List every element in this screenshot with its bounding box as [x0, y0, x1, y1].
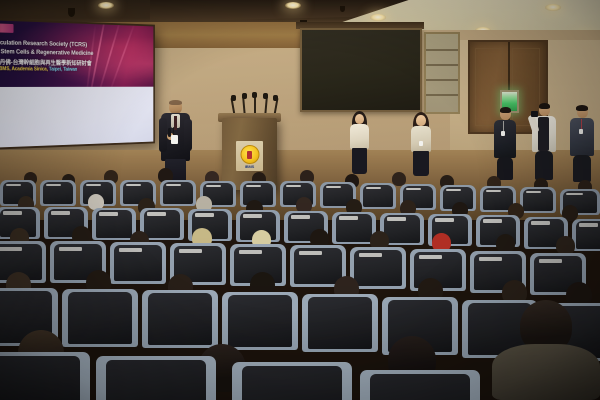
- slide-venue-line: Hall, IBMS, Academia Sinica, Taipei, Tai…: [0, 66, 153, 73]
- standing-woman-left-face: [355, 114, 364, 124]
- camera-device: [531, 111, 538, 117]
- standing-man-left: [492, 108, 518, 180]
- podium-microphone-head: [273, 95, 278, 101]
- photographer-vest: [538, 117, 549, 151]
- ceiling-downlight: [285, 2, 301, 9]
- ceiling-downlight: [545, 4, 561, 11]
- podium-microphone-head: [252, 92, 257, 98]
- standing-woman-left: [347, 112, 371, 174]
- secondary-dark-screen: [300, 28, 422, 112]
- standing-man-photographer: [530, 104, 558, 180]
- standing-man-left-hair: [500, 107, 511, 113]
- photographer-hair: [539, 103, 550, 109]
- podium-emblem-plaque: IBMS: [236, 141, 263, 171]
- ceiling-downlight: [98, 2, 114, 9]
- seal-center-mark: [247, 151, 252, 159]
- podium-microphone-head: [231, 95, 236, 101]
- standing-man-right-badge: [579, 129, 583, 134]
- auditorium-photo: n Circulation Research Society (TCRS) n …: [0, 0, 600, 400]
- speaker-necktie: [174, 116, 177, 130]
- auditorium-seat-foreground: [360, 370, 480, 400]
- auditorium-seat: [520, 187, 556, 213]
- auditorium-seat: [110, 242, 166, 284]
- speaker-arm-left: [159, 118, 167, 152]
- ceiling-downlight: [370, 14, 386, 21]
- slide-venue-city: Taipei, Taiwan: [49, 67, 77, 73]
- podium-microphone-head: [263, 93, 268, 99]
- projection-screen: n Circulation Research Society (TCRS) n …: [0, 18, 155, 150]
- speaker-name-badge: [171, 135, 178, 144]
- standing-woman-right-badge: [419, 141, 423, 146]
- ceiling-fixture-mount: [340, 6, 345, 12]
- audience-shoulders-foreground: [492, 344, 600, 400]
- auditorium-seat-foreground: [232, 362, 352, 400]
- wall-louver-panel: [424, 32, 460, 114]
- standing-man-right-hair: [576, 105, 588, 111]
- ceiling-fixture-mount: [68, 8, 75, 17]
- standing-man-right: [568, 106, 596, 182]
- standing-man-left-badge: [501, 131, 505, 136]
- photographer-legs: [535, 151, 553, 180]
- tcrs-slide-logo: [0, 23, 14, 33]
- standing-woman-right-blouse: [411, 126, 431, 152]
- standing-woman-left-skirt: [352, 148, 367, 174]
- auditorium-seat-foreground: [0, 352, 90, 400]
- slide-venue-prefix: Hall, IBMS, Academia Sinica,: [0, 66, 49, 72]
- auditorium-seat: [350, 247, 406, 289]
- standing-woman-right-skirt: [413, 151, 429, 176]
- auditorium-seat: [40, 180, 76, 206]
- speaker-hair: [169, 100, 182, 105]
- podium-microphone-head: [242, 93, 247, 99]
- auditorium-seat: [302, 294, 378, 352]
- auditorium-seat: [160, 180, 196, 206]
- auditorium-seat: [572, 219, 600, 251]
- auditorium-seat: [360, 183, 396, 209]
- speaker-arm-right: [184, 119, 192, 151]
- institute-seal-icon: [240, 145, 259, 164]
- podium-emblem-label: IBMS: [236, 164, 263, 169]
- standing-woman-right: [408, 113, 433, 176]
- auditorium-seat-foreground: [96, 356, 216, 400]
- slide-title-line-2: n on Stem Cells & Regenerative Medicine: [0, 48, 153, 58]
- projection-screen-surface: n Circulation Research Society (TCRS) n …: [0, 20, 153, 148]
- auditorium-seat: [62, 289, 138, 347]
- standing-man-left-jacket: [494, 120, 516, 158]
- standing-woman-right-face: [416, 115, 426, 126]
- auditorium-seat: [222, 292, 298, 350]
- standing-woman-left-blouse: [350, 124, 369, 149]
- auditorium-seat: [92, 208, 136, 240]
- auditorium-seat: [142, 290, 218, 348]
- standing-man-left-legs: [497, 157, 513, 180]
- standing-man-right-shirt: [570, 118, 594, 156]
- presentation-slide: n Circulation Research Society (TCRS) n …: [0, 20, 153, 86]
- standing-man-right-legs: [573, 155, 591, 182]
